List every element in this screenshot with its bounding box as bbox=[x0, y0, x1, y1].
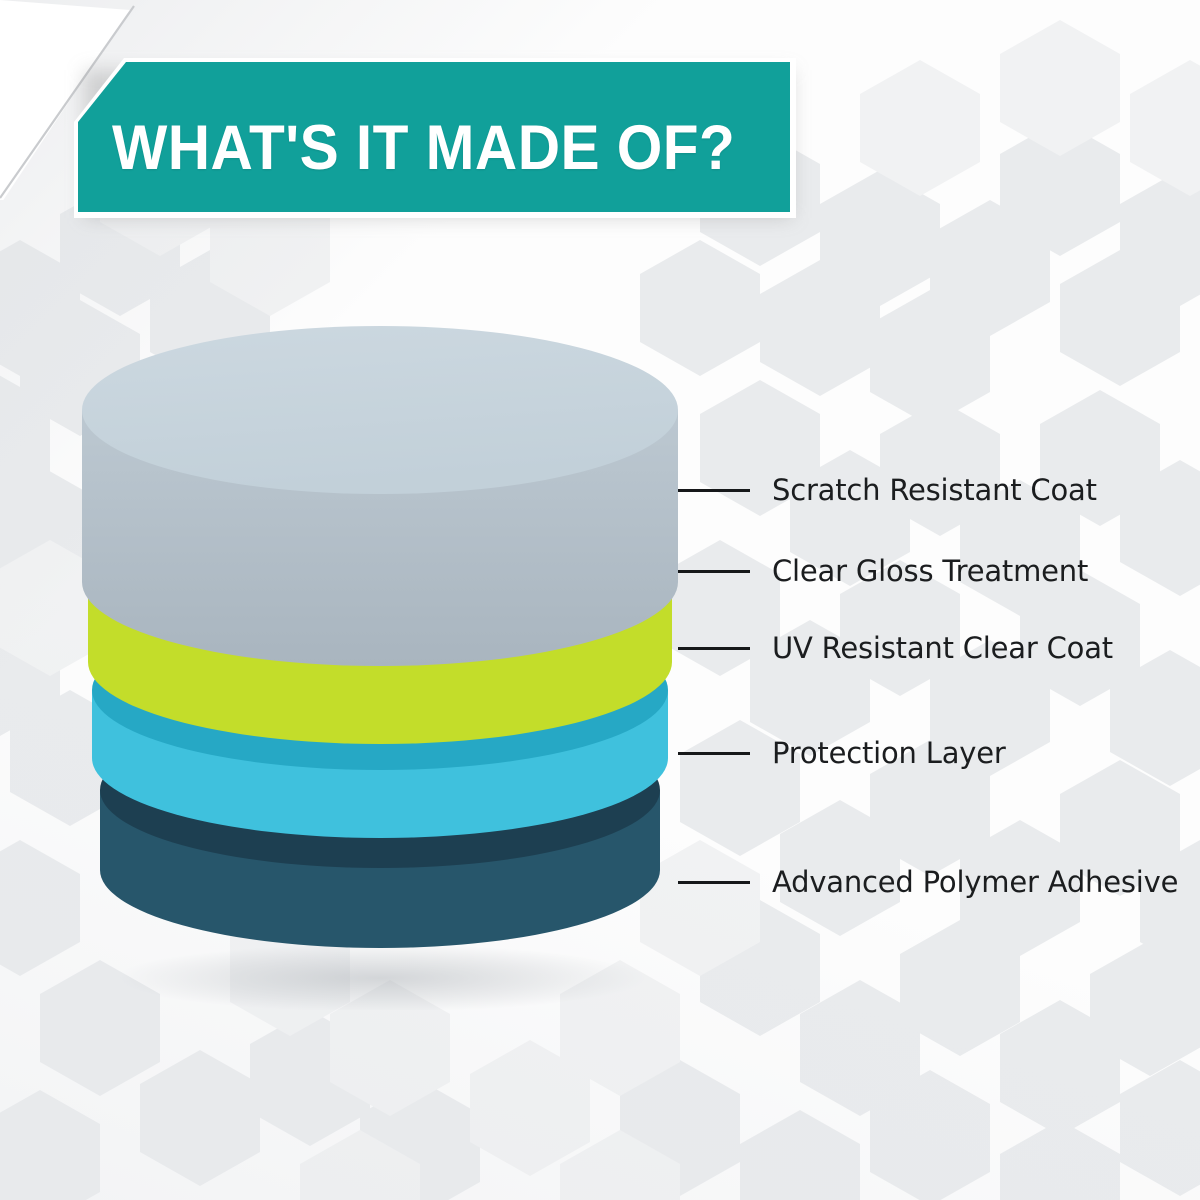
callout-label: Advanced Polymer Adhesive bbox=[772, 865, 1178, 899]
callout-label: Scratch Resistant Coat bbox=[772, 473, 1097, 507]
leader-line-icon bbox=[678, 881, 750, 884]
leader-line-icon bbox=[678, 489, 750, 492]
callout-uv-resistant-clear-coat: UV Resistant Clear Coat bbox=[678, 633, 1113, 663]
infographic-canvas: WHAT'S IT MADE OF? bbox=[0, 0, 1200, 1200]
callout-clear-gloss-treatment: Clear Gloss Treatment bbox=[678, 556, 1088, 586]
callout-list: Scratch Resistant Coat Clear Gloss Treat… bbox=[0, 0, 1200, 1200]
callout-advanced-polymer-adhesive: Advanced Polymer Adhesive bbox=[678, 867, 1178, 897]
leader-line-icon bbox=[678, 647, 750, 650]
leader-line-icon bbox=[678, 752, 750, 755]
callout-label: Protection Layer bbox=[772, 736, 1006, 770]
callout-protection-layer: Protection Layer bbox=[678, 738, 1006, 768]
leader-line-icon bbox=[678, 570, 750, 573]
callout-scratch-resistant-coat: Scratch Resistant Coat bbox=[678, 475, 1097, 505]
callout-label: Clear Gloss Treatment bbox=[772, 554, 1088, 588]
callout-label: UV Resistant Clear Coat bbox=[772, 631, 1113, 665]
